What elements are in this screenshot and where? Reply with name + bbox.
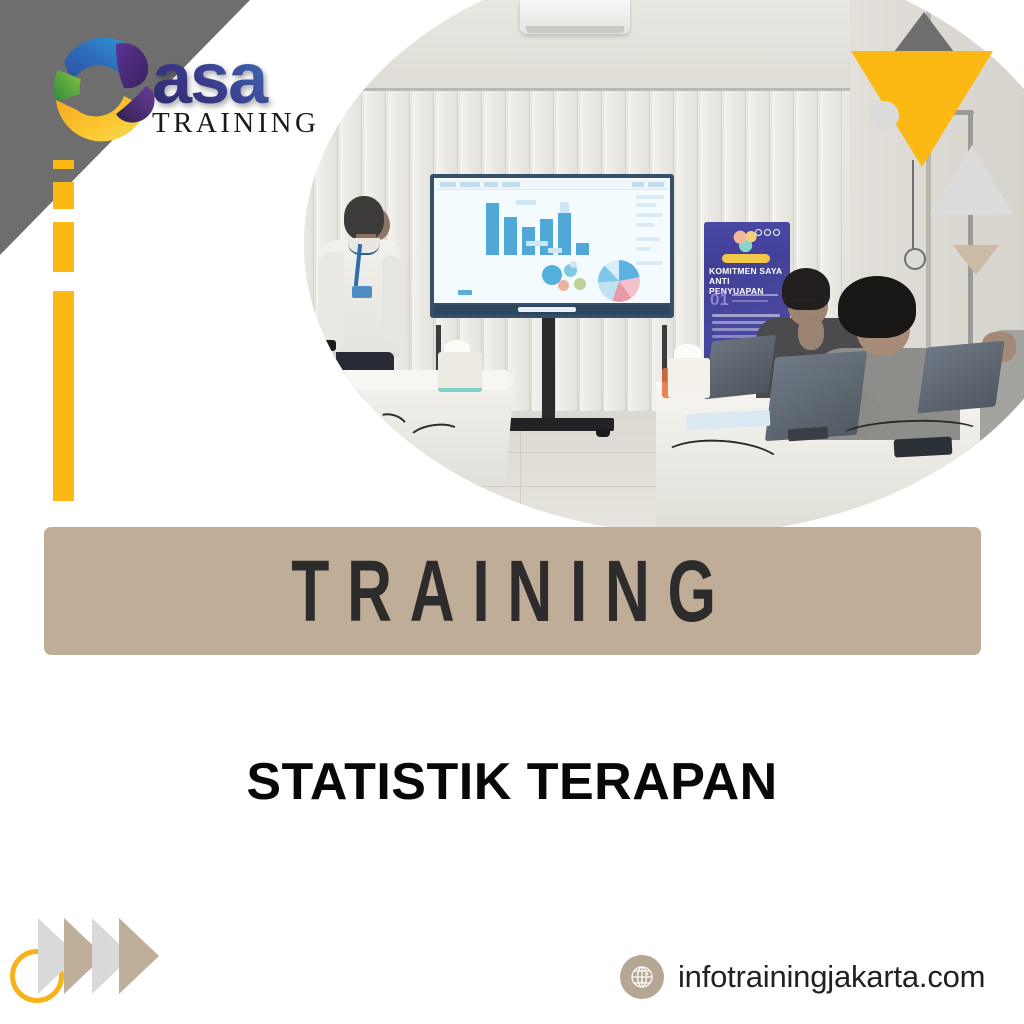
presentation-display (430, 174, 674, 318)
website-url[interactable]: infotrainingjakarta.com (678, 959, 985, 995)
yellow-dash-2 (53, 182, 74, 209)
presenter-hand (312, 350, 330, 364)
display-bezel-bar (434, 305, 670, 315)
presenter-watch (318, 340, 336, 351)
participant-1-glasses (787, 296, 823, 308)
participant-1-hand (798, 316, 824, 350)
dashboard-sidepanel (634, 191, 668, 301)
brand-logo: asa TRAINING (28, 18, 328, 158)
yellow-dash-1 (53, 160, 74, 169)
laptop-1 (704, 335, 776, 400)
globe-icon (620, 955, 664, 999)
tissue-box-left (438, 352, 482, 392)
ac-vent (526, 26, 624, 33)
white-triangle-up-icon (930, 145, 1014, 215)
presenter-id-badge (352, 286, 372, 298)
hanging-cord (912, 160, 914, 250)
tan-triangle-down-icon (953, 245, 999, 275)
yellow-dash-3 (53, 222, 74, 272)
presenter-arm-right (382, 256, 404, 342)
training-band-label: TRAINING (291, 540, 733, 642)
rollup-item-01: 01 (710, 290, 729, 310)
hanging-ring (904, 248, 926, 270)
dashboard-toolbar (436, 180, 668, 190)
laptop-3 (917, 341, 1004, 414)
poster-canvas: KOMITMEN SAYA ANTI PENYUAPAN 01 02 (0, 0, 1024, 1024)
presenter-collar (348, 238, 380, 255)
yellow-dash-4 (53, 291, 74, 501)
logo-wordmark: asa (152, 50, 362, 109)
light-circle-icon (870, 101, 899, 130)
chevron-arrow-4 (119, 918, 159, 994)
laptop-left (290, 350, 336, 409)
casa-swoosh-icon (28, 18, 168, 158)
rollup-banner-line1: KOMITMEN SAYA (709, 266, 785, 276)
display-screen (434, 178, 670, 303)
tissue-box-right (668, 358, 710, 398)
display-stand-pole (542, 318, 555, 422)
presenter-arm-left (318, 252, 344, 348)
page-title: STATISTIK TERAPAN (0, 752, 1024, 812)
footer-website[interactable]: infotrainingjakarta.com (620, 955, 985, 999)
training-band: TRAINING (44, 527, 981, 655)
participant-2-hair (838, 276, 916, 338)
